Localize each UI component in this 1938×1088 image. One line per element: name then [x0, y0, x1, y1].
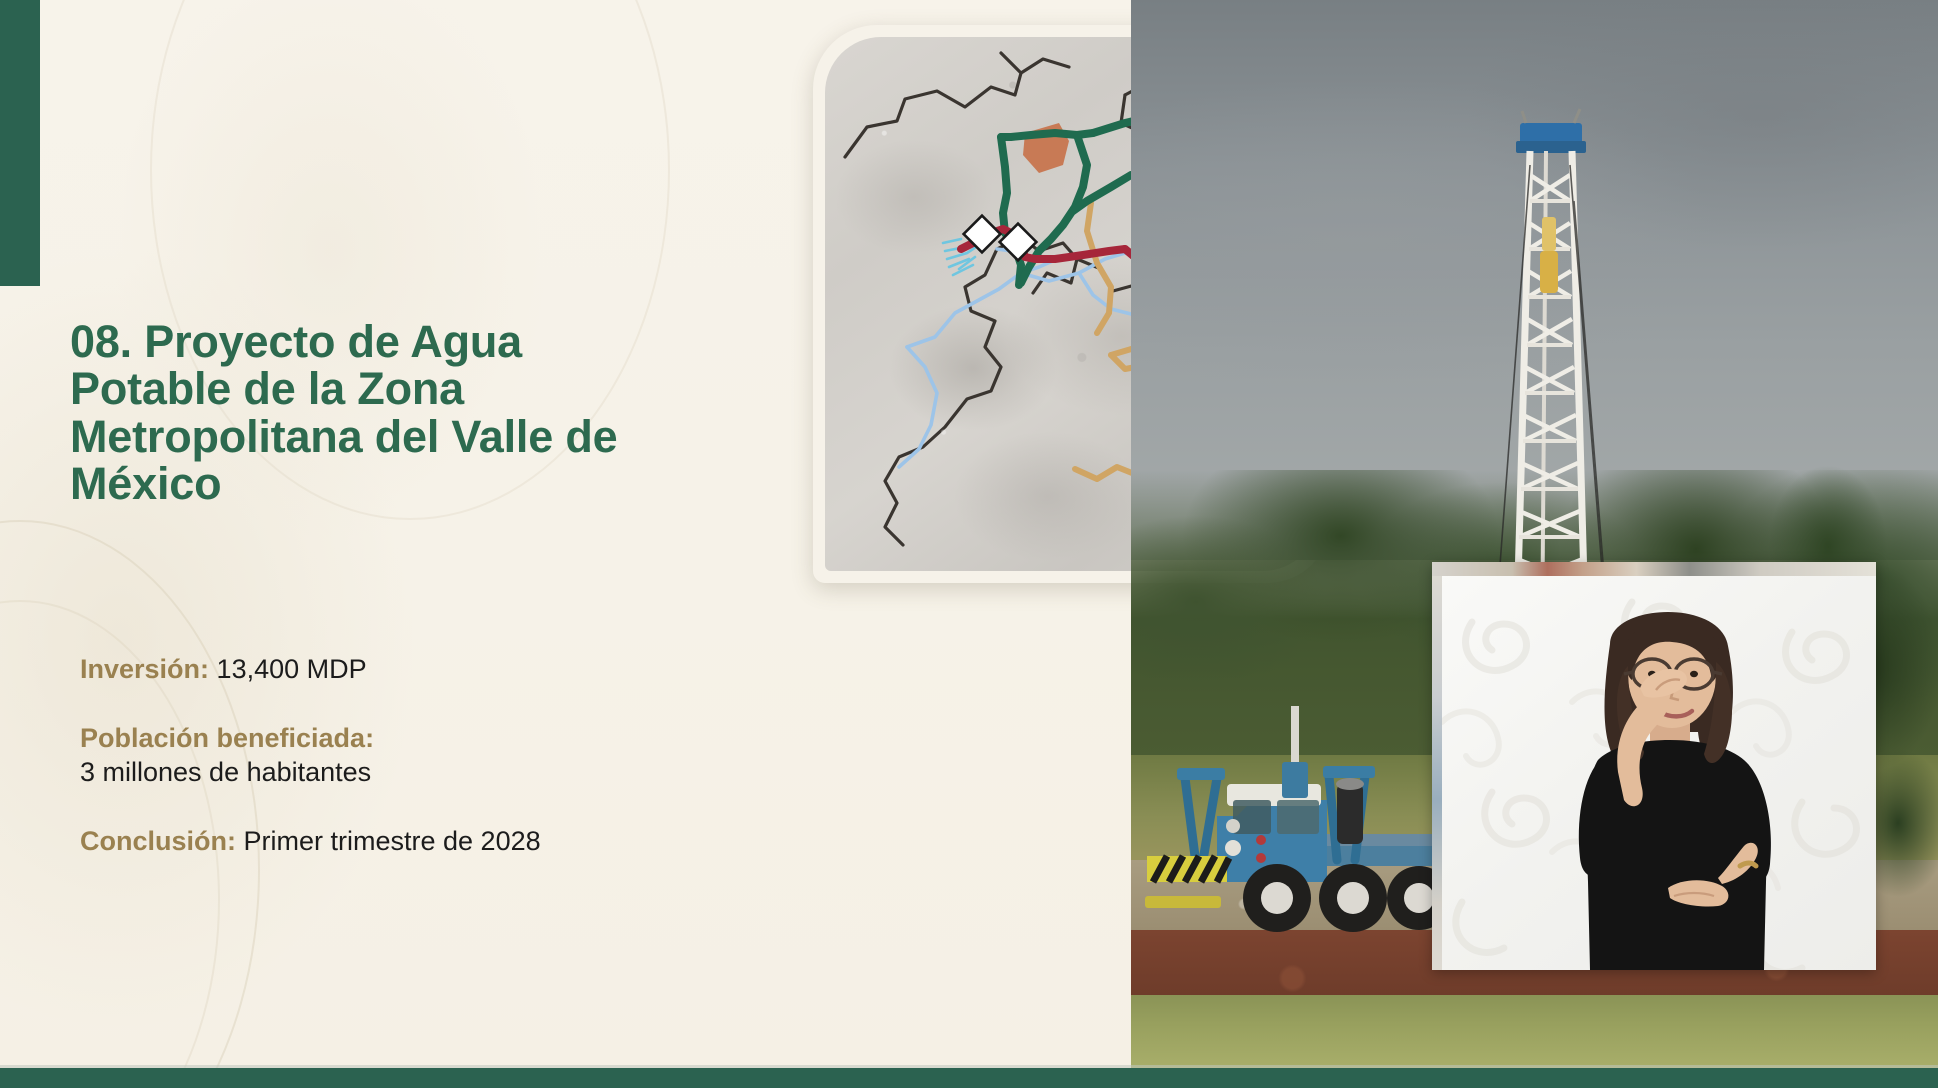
fact-label: Población beneficiada:	[80, 723, 374, 753]
background-shelf	[1432, 562, 1876, 576]
project-zone-polygon	[1023, 123, 1069, 173]
fact-value: 13,400 MDP	[217, 654, 367, 684]
background-side-object	[1432, 576, 1442, 970]
fact-label: Conclusión:	[80, 826, 236, 856]
drilling-truck	[1141, 700, 1461, 950]
fact-population: Población beneficiada: 3 millones de hab…	[80, 721, 720, 791]
left-accent-bar	[0, 0, 40, 286]
fact-investment: Inversión: 13,400 MDP	[80, 652, 720, 687]
presentation-screen: 08. Proyecto de Agua Potable de la Zona …	[0, 0, 1938, 1088]
facts-list: Inversión: 13,400 MDP Población benefici…	[80, 652, 720, 893]
fact-label: Inversión:	[80, 654, 209, 684]
river-delta	[943, 239, 979, 275]
foreground-grass	[1131, 995, 1938, 1068]
fact-value: Primer trimestre de 2028	[244, 826, 541, 856]
fact-conclusion: Conclusión: Primer trimestre de 2028	[80, 824, 720, 859]
sign-language-interpreter-window	[1432, 562, 1876, 970]
interpreter-figure	[1532, 582, 1812, 970]
bottom-accent-bar	[0, 1068, 1938, 1088]
fact-subvalue: 3 millones de habitantes	[80, 755, 720, 790]
page-title: 08. Proyecto de Agua Potable de la Zona …	[70, 318, 670, 507]
